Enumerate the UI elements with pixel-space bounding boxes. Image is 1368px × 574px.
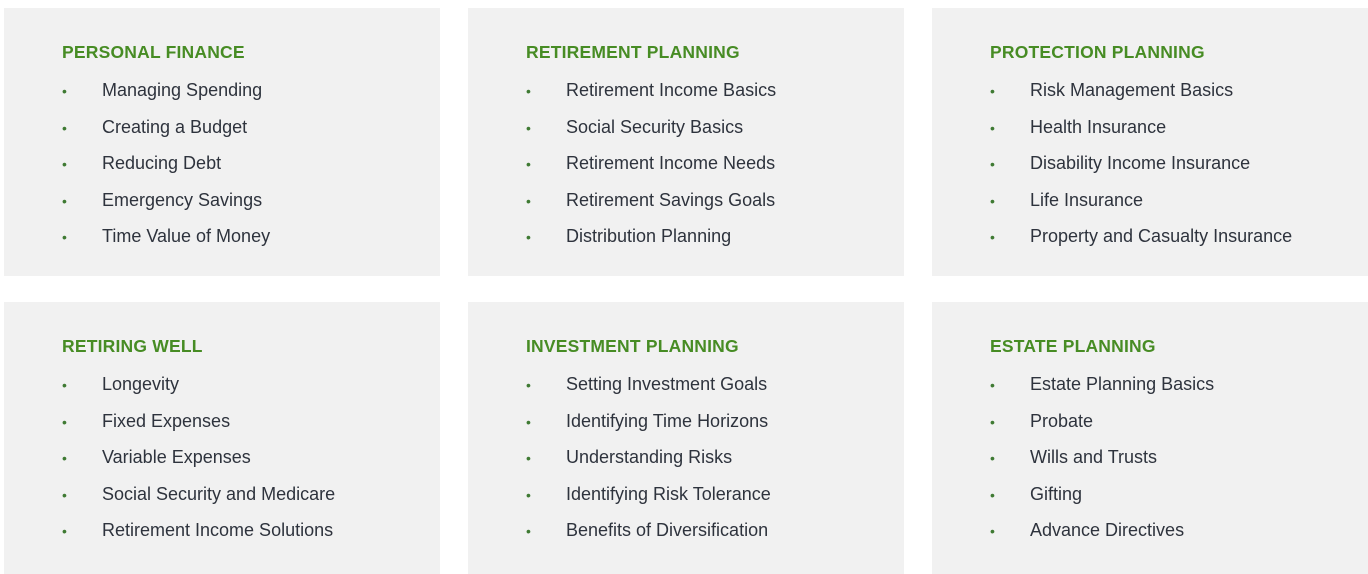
topic-label: Probate	[1030, 410, 1093, 432]
bullet-icon	[990, 153, 1030, 175]
list-item[interactable]: Distribution Planning	[526, 225, 884, 262]
topic-label: Social Security Basics	[566, 116, 743, 138]
topic-label: Reducing Debt	[102, 152, 221, 174]
card-title: PROTECTION PLANNING	[990, 42, 1348, 62]
list-item[interactable]: Wills and Trusts	[990, 446, 1348, 483]
list-item[interactable]: Identifying Time Horizons	[526, 410, 884, 447]
topic-label: Creating a Budget	[102, 116, 247, 138]
list-item[interactable]: Time Value of Money	[62, 225, 420, 262]
list-item[interactable]: Identifying Risk Tolerance	[526, 483, 884, 520]
list-item[interactable]: Reducing Debt	[62, 152, 420, 189]
topic-label: Setting Investment Goals	[566, 373, 767, 395]
topic-label: Identifying Risk Tolerance	[566, 483, 771, 505]
list-item[interactable]: Disability Income Insurance	[990, 152, 1348, 189]
bullet-icon	[990, 484, 1030, 506]
card-estate-planning: ESTATE PLANNING Estate Planning Basics P…	[932, 302, 1368, 574]
list-item[interactable]: Understanding Risks	[526, 446, 884, 483]
list-item[interactable]: Creating a Budget	[62, 116, 420, 153]
card-title: RETIREMENT PLANNING	[526, 42, 884, 62]
bullet-icon	[990, 190, 1030, 212]
topic-label: Benefits of Diversification	[566, 519, 768, 541]
bullet-icon	[526, 117, 566, 139]
topic-label: Understanding Risks	[566, 446, 732, 468]
list-item[interactable]: Setting Investment Goals	[526, 373, 884, 410]
bullet-icon	[526, 226, 566, 248]
topic-label: Identifying Time Horizons	[566, 410, 768, 432]
list-item[interactable]: Estate Planning Basics	[990, 373, 1348, 410]
topic-list: Managing Spending Creating a Budget Redu…	[62, 79, 420, 262]
bullet-icon	[62, 117, 102, 139]
topic-label: Gifting	[1030, 483, 1082, 505]
topic-label: Emergency Savings	[102, 189, 262, 211]
bullet-icon	[990, 117, 1030, 139]
list-item[interactable]: Social Security and Medicare	[62, 483, 420, 520]
card-title: RETIRING WELL	[62, 336, 420, 356]
list-item[interactable]: Retirement Income Needs	[526, 152, 884, 189]
topic-label: Wills and Trusts	[1030, 446, 1157, 468]
bullet-icon	[62, 80, 102, 102]
list-item[interactable]: Retirement Income Solutions	[62, 519, 420, 556]
list-item[interactable]: Retirement Income Basics	[526, 79, 884, 116]
topic-label: Retirement Income Needs	[566, 152, 775, 174]
list-item[interactable]: Health Insurance	[990, 116, 1348, 153]
list-item[interactable]: Advance Directives	[990, 519, 1348, 556]
bullet-icon	[62, 447, 102, 469]
bullet-icon	[526, 447, 566, 469]
list-item[interactable]: Probate	[990, 410, 1348, 447]
bullet-icon	[62, 374, 102, 396]
list-item[interactable]: Variable Expenses	[62, 446, 420, 483]
topic-label: Disability Income Insurance	[1030, 152, 1250, 174]
bullet-icon	[990, 374, 1030, 396]
list-item[interactable]: Emergency Savings	[62, 189, 420, 226]
bullet-icon	[990, 520, 1030, 542]
topic-label: Distribution Planning	[566, 225, 731, 247]
list-item[interactable]: Life Insurance	[990, 189, 1348, 226]
bullet-icon	[526, 520, 566, 542]
topic-list: Longevity Fixed Expenses Variable Expens…	[62, 373, 420, 556]
card-title: INVESTMENT PLANNING	[526, 336, 884, 356]
topic-label: Life Insurance	[1030, 189, 1143, 211]
list-item[interactable]: Gifting	[990, 483, 1348, 520]
topic-label: Retirement Savings Goals	[566, 189, 775, 211]
list-item[interactable]: Fixed Expenses	[62, 410, 420, 447]
topic-label: Retirement Income Basics	[566, 79, 776, 101]
bullet-icon	[526, 153, 566, 175]
topic-label: Advance Directives	[1030, 519, 1184, 541]
bullet-icon	[526, 411, 566, 433]
bullet-icon	[62, 190, 102, 212]
bullet-icon	[62, 484, 102, 506]
list-item[interactable]: Managing Spending	[62, 79, 420, 116]
card-retirement-planning: RETIREMENT PLANNING Retirement Income Ba…	[468, 8, 904, 276]
list-item[interactable]: Benefits of Diversification	[526, 519, 884, 556]
bullet-icon	[990, 447, 1030, 469]
card-personal-finance: PERSONAL FINANCE Managing Spending Creat…	[4, 8, 440, 276]
card-investment-planning: INVESTMENT PLANNING Setting Investment G…	[468, 302, 904, 574]
topic-list: Estate Planning Basics Probate Wills and…	[990, 373, 1348, 556]
topic-label: Property and Casualty Insurance	[1030, 225, 1292, 247]
bullet-icon	[62, 226, 102, 248]
card-title: ESTATE PLANNING	[990, 336, 1348, 356]
bullet-icon	[526, 190, 566, 212]
bullet-icon	[526, 374, 566, 396]
topic-label: Time Value of Money	[102, 225, 270, 247]
bullet-icon	[62, 153, 102, 175]
topic-label: Estate Planning Basics	[1030, 373, 1214, 395]
topic-list: Retirement Income Basics Social Security…	[526, 79, 884, 262]
topic-label: Variable Expenses	[102, 446, 251, 468]
bullet-icon	[990, 80, 1030, 102]
list-item[interactable]: Retirement Savings Goals	[526, 189, 884, 226]
bullet-icon	[526, 80, 566, 102]
card-title: PERSONAL FINANCE	[62, 42, 420, 62]
topic-list: Setting Investment Goals Identifying Tim…	[526, 373, 884, 556]
bullet-icon	[526, 484, 566, 506]
list-item[interactable]: Social Security Basics	[526, 116, 884, 153]
topic-list: Risk Management Basics Health Insurance …	[990, 79, 1348, 262]
topic-label: Fixed Expenses	[102, 410, 230, 432]
bullet-icon	[990, 411, 1030, 433]
topic-label: Managing Spending	[102, 79, 262, 101]
topic-label: Health Insurance	[1030, 116, 1166, 138]
topic-label: Longevity	[102, 373, 179, 395]
bullet-icon	[62, 520, 102, 542]
bullet-icon	[990, 226, 1030, 248]
topic-label: Retirement Income Solutions	[102, 519, 333, 541]
list-item[interactable]: Longevity	[62, 373, 420, 410]
card-protection-planning: PROTECTION PLANNING Risk Management Basi…	[932, 8, 1368, 276]
topic-label: Social Security and Medicare	[102, 483, 335, 505]
bullet-icon	[62, 411, 102, 433]
topic-label: Risk Management Basics	[1030, 79, 1233, 101]
topic-card-grid: PERSONAL FINANCE Managing Spending Creat…	[0, 0, 1368, 574]
list-item[interactable]: Risk Management Basics	[990, 79, 1348, 116]
card-retiring-well: RETIRING WELL Longevity Fixed Expenses V…	[4, 302, 440, 574]
list-item[interactable]: Property and Casualty Insurance	[990, 225, 1348, 262]
